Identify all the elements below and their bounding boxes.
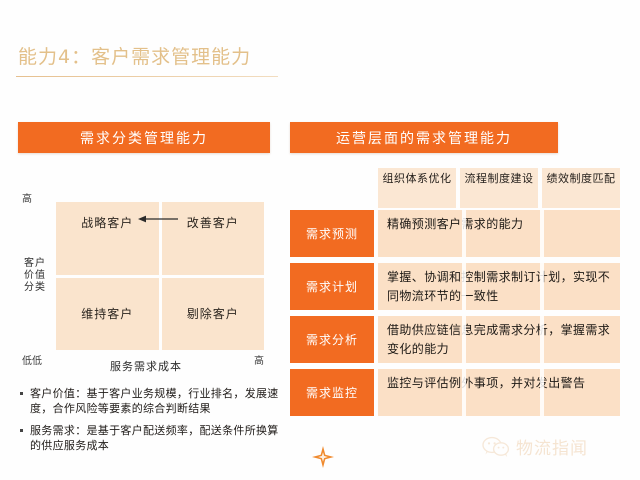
quadrant-maintain-customer: 维持客户 bbox=[56, 278, 159, 351]
y-axis-low-label: 低 bbox=[22, 352, 32, 367]
table-row: 需求分析 借助供应链信息完成需求分析，掌握需求变化的能力 bbox=[290, 316, 620, 363]
row-label-demand-plan: 需求计划 bbox=[290, 263, 374, 310]
bullet-icon bbox=[20, 429, 23, 432]
column-header-org-system: 组织体系优化 bbox=[378, 168, 456, 208]
quadrant-remove-customer: 剔除客户 bbox=[162, 278, 265, 351]
x-axis-low-label: 低 bbox=[32, 352, 42, 367]
quadrant-improve-customer: 改善客户 bbox=[162, 202, 265, 275]
column-header-process-system: 流程制度建设 bbox=[460, 168, 538, 208]
table-column-headers: 组织体系优化 流程制度建设 绩效制度匹配 bbox=[378, 168, 620, 208]
list-item: 服务需求：是基于客户配送频率，配送条件所换算的供应服务成本 bbox=[20, 423, 282, 453]
page-title: 能力4：客户需求管理能力 bbox=[18, 42, 251, 69]
section-header-left: 需求分类管理能力 bbox=[18, 122, 270, 153]
y-axis-high-label: 高 bbox=[22, 190, 32, 205]
quadrant-strategic-customer: 战略客户 bbox=[56, 202, 159, 275]
watermark: 物流指闻 bbox=[482, 434, 588, 459]
note-text: 客户价值：基于客户业务规模，行业排名，发展速度，合作风险等要素的综合判断结果 bbox=[30, 386, 282, 416]
note-text: 服务需求：是基于客户配送频率，配送条件所换算的供应服务成本 bbox=[30, 423, 282, 453]
wechat-icon bbox=[482, 436, 510, 458]
column-header-performance-system: 绩效制度匹配 bbox=[542, 168, 620, 208]
x-axis-title: 服务需求成本 bbox=[110, 358, 182, 374]
section-header-right: 运营层面的需求管理能力 bbox=[290, 122, 558, 153]
customer-value-matrix: 高 低 客户价值分类 战略客户 改善客户 维持客户 剔除客户 低 高 服务需求成… bbox=[18, 186, 280, 376]
matrix-grid: 战略客户 改善客户 维持客户 剔除客户 bbox=[56, 202, 264, 350]
row-label-demand-analysis: 需求分析 bbox=[290, 316, 374, 363]
title-underline bbox=[16, 76, 278, 77]
watermark-text: 物流指闻 bbox=[516, 434, 588, 459]
row-description: 监控与评估例外事项，并对发出警告 bbox=[378, 369, 620, 416]
row-description: 借助供应链信息完成需求分析，掌握需求变化的能力 bbox=[378, 316, 620, 363]
table-row: 需求预测 精确预测客户需求的能力 bbox=[290, 210, 620, 257]
list-item: 客户价值：基于客户业务规模，行业排名，发展速度，合作风险等要素的综合判断结果 bbox=[20, 386, 282, 416]
bullet-icon bbox=[20, 392, 23, 395]
demand-management-table: 组织体系优化 流程制度建设 绩效制度匹配 需求预测 精确预测客户需求的能力 需求… bbox=[290, 168, 620, 416]
row-label-demand-forecast: 需求预测 bbox=[290, 210, 374, 257]
four-point-star-icon bbox=[312, 446, 334, 468]
notes-list: 客户价值：基于客户业务规模，行业排名，发展速度，合作风险等要素的综合判断结果 服… bbox=[20, 386, 282, 460]
row-description: 掌握、协调和控制需求制订计划，实现不同物流环节的一致性 bbox=[378, 263, 620, 310]
row-label-demand-monitor: 需求监控 bbox=[290, 369, 374, 416]
x-axis-high-label: 高 bbox=[254, 352, 264, 367]
y-axis-title: 客户价值分类 bbox=[20, 258, 50, 294]
row-description: 精确预测客户需求的能力 bbox=[378, 210, 620, 257]
table-row: 需求监控 监控与评估例外事项，并对发出警告 bbox=[290, 369, 620, 416]
table-row: 需求计划 掌握、协调和控制需求制订计划，实现不同物流环节的一致性 bbox=[290, 263, 620, 310]
table-body: 需求预测 精确预测客户需求的能力 需求计划 掌握、协调和控制需求制订计划，实现不… bbox=[290, 210, 620, 416]
